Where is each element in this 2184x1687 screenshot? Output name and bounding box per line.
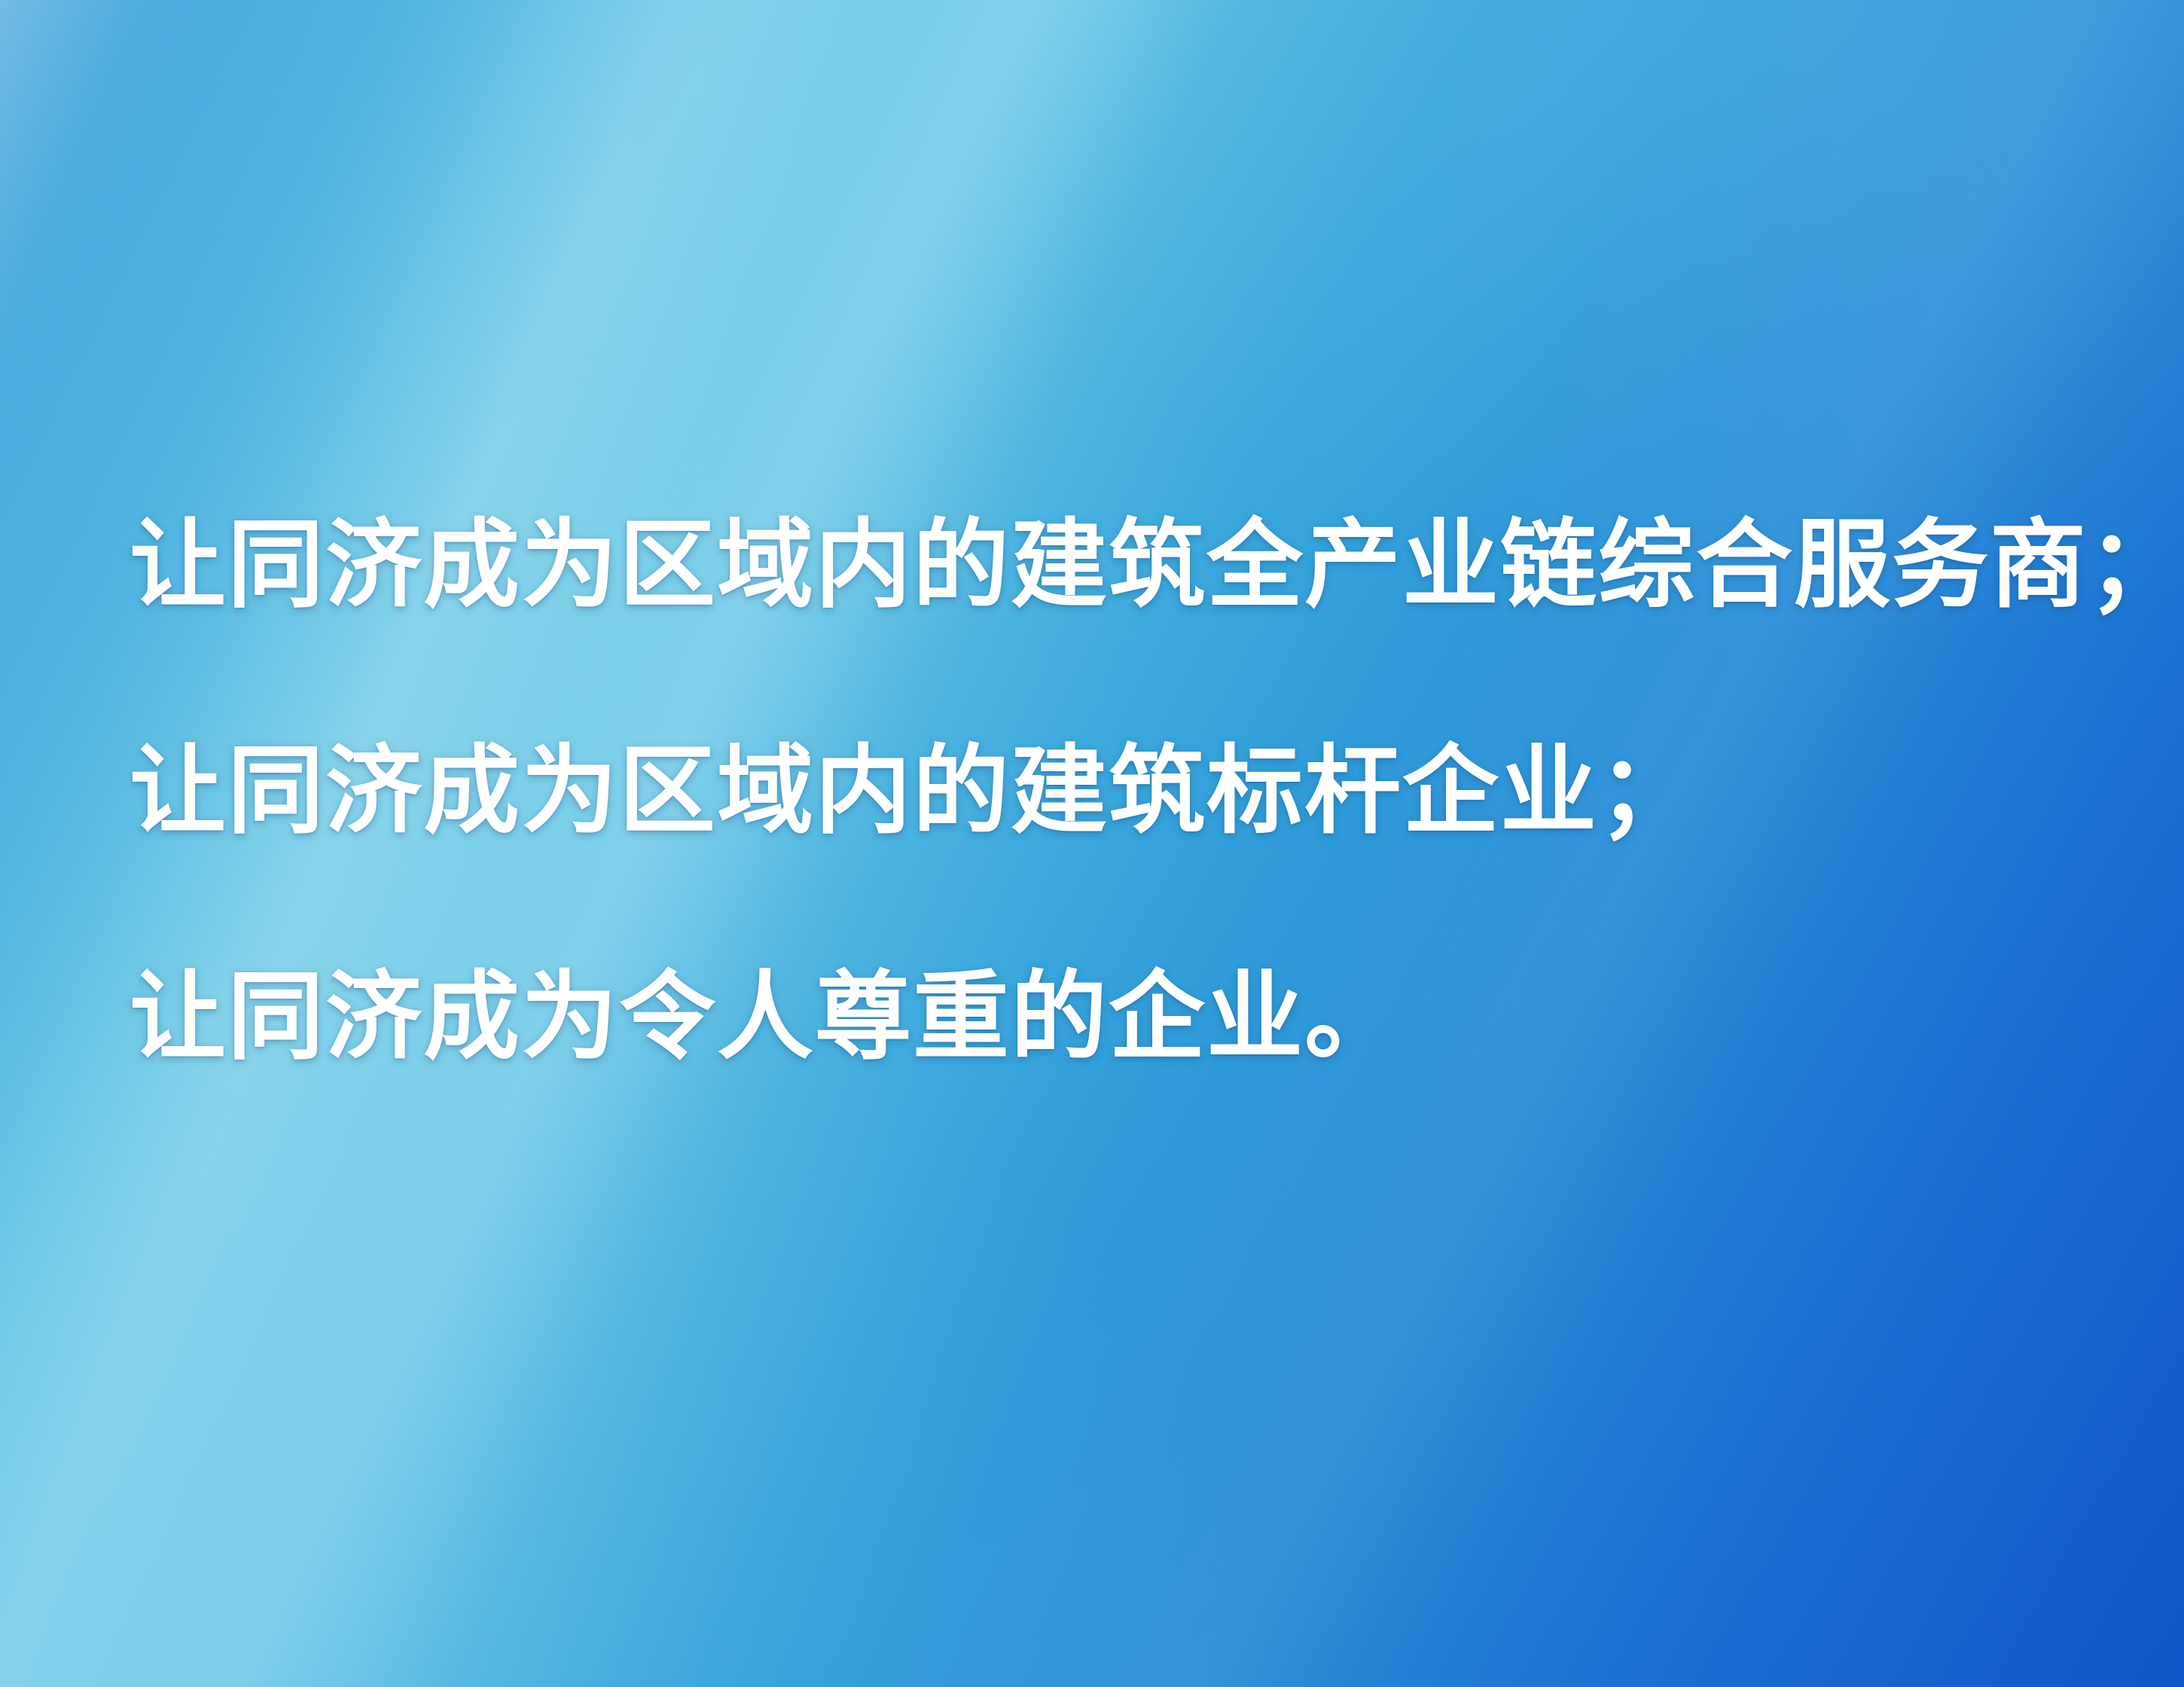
presentation-slide: 让同济成为区域内的建筑全产业链综合服务商； 让同济成为区域内的建筑标杆企业； 让… [0,0,2184,1687]
slide-line-2: 让同济成为区域内的建筑标杆企业； [130,678,2088,904]
slide-line-1: 让同济成为区域内的建筑全产业链综合服务商； [130,452,2088,678]
slide-line-3: 让同济成为令人尊重的企业。 [130,904,2088,1130]
slide-text-block: 让同济成为区域内的建筑全产业链综合服务商； 让同济成为区域内的建筑标杆企业； 让… [130,452,2088,1130]
